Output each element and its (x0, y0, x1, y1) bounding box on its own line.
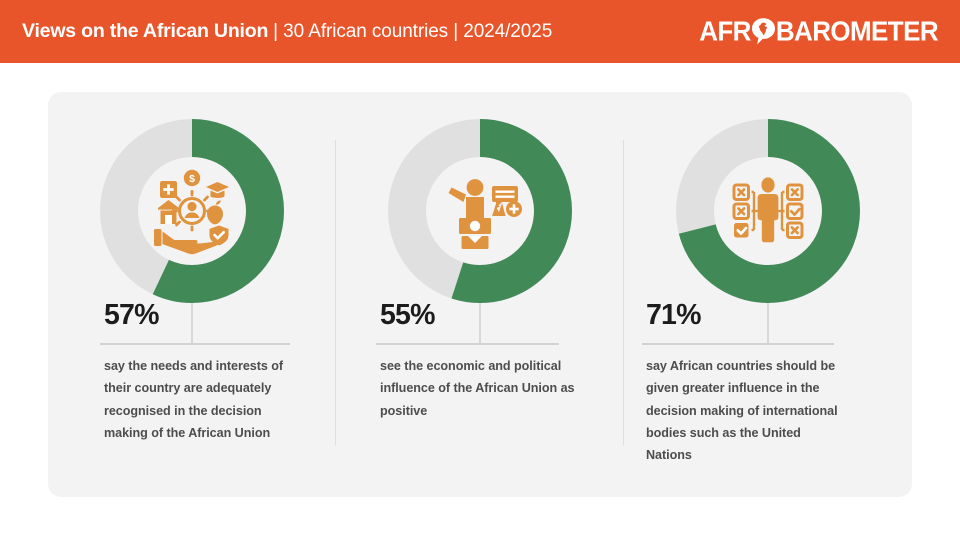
afrobarometer-logo: AFR BAROMETER (699, 15, 938, 48)
stat-description-influence: see the economic and political influence… (380, 355, 575, 422)
stats-columns: $ (48, 92, 912, 497)
svg-text:$: $ (189, 173, 195, 185)
pct-tick-decision (768, 303, 769, 343)
africa-speech-bubble-icon (751, 17, 776, 46)
stat-column-influence: 55% see the economic and political influ… (336, 92, 624, 497)
logo-text-left: AFR (699, 15, 751, 48)
pct-rule-decision (642, 343, 834, 345)
page-title: Views on the African Union (22, 20, 268, 43)
pct-tick-influence (480, 303, 481, 343)
stat-percent-decision: 71% (646, 301, 701, 330)
donut-chart-needs: $ (99, 118, 285, 304)
decision-choices-icon (716, 159, 820, 263)
pct-rule-needs (100, 343, 290, 345)
podium-speaker-icon (428, 159, 532, 263)
stat-description-decision: say African countries should be given gr… (646, 355, 846, 466)
social-needs-icon: $ (140, 159, 244, 263)
stat-percent-influence: 55% (380, 301, 435, 330)
stat-description-needs: say the needs and interests of their cou… (104, 355, 304, 444)
stat-column-decision: 71% say African countries should be give… (624, 92, 912, 497)
donut-chart-decision (675, 118, 861, 304)
stat-column-needs: $ (48, 92, 336, 497)
page-subtitle: | 30 African countries | 2024/2025 (273, 21, 552, 43)
stats-card: $ (48, 92, 912, 497)
header-title: Views on the African Union | 30 African … (22, 20, 552, 43)
header-bar: Views on the African Union | 30 African … (0, 0, 960, 63)
stat-percent-needs: 57% (104, 301, 159, 330)
donut-chart-influence (387, 118, 573, 304)
logo-text-right: BAROMETER (776, 15, 938, 48)
pct-rule-influence (376, 343, 559, 345)
pct-tick-needs (192, 303, 193, 343)
